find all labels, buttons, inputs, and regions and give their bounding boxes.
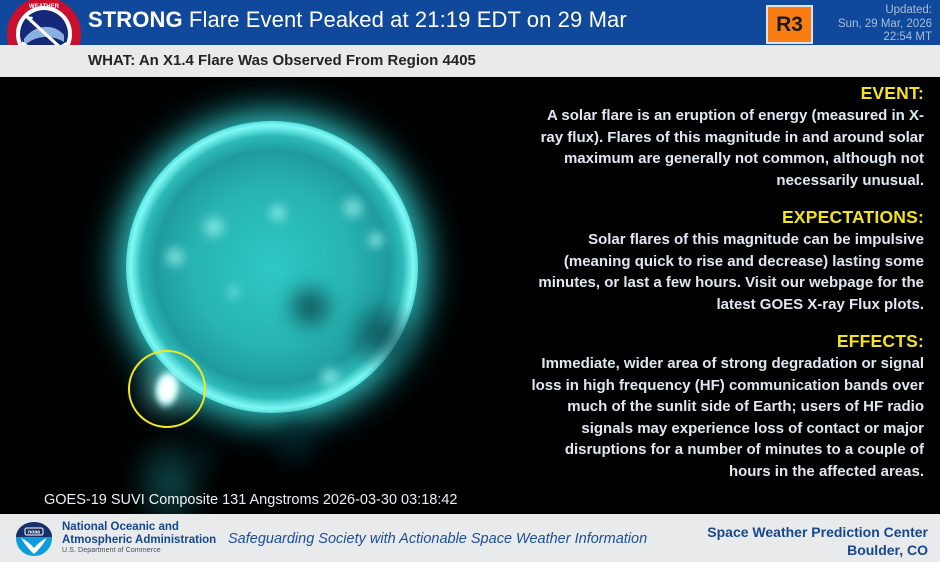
- noaa-name-line2: Atmospheric Administration: [62, 534, 216, 547]
- section-expectations-heading: EXPECTATIONS:: [529, 207, 924, 228]
- info-text-panel: EVENT: A solar flare is an eruption of e…: [523, 77, 940, 514]
- swpc-attribution: Space Weather Prediction Center Boulder,…: [707, 523, 928, 559]
- footer-tagline: Safeguarding Society with Actionable Spa…: [228, 531, 647, 547]
- active-region: [348, 223, 404, 257]
- noaa-name-line1: National Oceanic and: [62, 521, 216, 534]
- section-expectations: EXPECTATIONS: Solar flares of this magni…: [529, 207, 924, 315]
- flare-annotation-circle: [128, 350, 206, 428]
- section-expectations-body: Solar flares of this magnitude can be im…: [529, 229, 924, 315]
- body-area: GOES-19 SUVI Composite 131 Angstroms 202…: [0, 77, 940, 514]
- swpc-location: Boulder, CO: [707, 541, 928, 559]
- updated-timestamp: Updated: Sun, 29 Mar, 2026 22:54 MT: [812, 4, 932, 45]
- page-title-severity: STRONG: [88, 7, 183, 32]
- updated-time: 22:54 MT: [812, 31, 932, 45]
- noaa-logo-icon: noaa: [14, 521, 54, 557]
- image-caption: GOES-19 SUVI Composite 131 Angstroms 202…: [44, 492, 457, 508]
- svg-text:WEATHER: WEATHER: [29, 4, 60, 10]
- active-region: [210, 277, 256, 307]
- section-effects-body: Immediate, wider area of strong degradat…: [529, 353, 924, 482]
- section-event: EVENT: A solar flare is an eruption of e…: [529, 83, 924, 191]
- status-badge: R3: [766, 5, 813, 44]
- updated-label: Updated:: [812, 4, 932, 18]
- what-text: WHAT: An X1.4 Flare Was Observed From Re…: [88, 52, 476, 69]
- active-region: [248, 195, 308, 231]
- space-weather-alert-page: STRONG Flare Event Peaked at 21:19 EDT o…: [0, 0, 940, 562]
- status-badge-label: R3: [776, 14, 803, 35]
- coronal-hole: [160, 427, 250, 487]
- updated-date: Sun, 29 Mar, 2026: [812, 18, 932, 32]
- section-effects: EFFECTS: Immediate, wider area of strong…: [529, 331, 924, 482]
- page-title: STRONG Flare Event Peaked at 21:19 EDT o…: [88, 7, 748, 33]
- active-region: [150, 237, 200, 277]
- noaa-agency-name: National Oceanic and Atmospheric Adminis…: [62, 521, 216, 546]
- coronal-hole: [330, 277, 440, 397]
- page-title-rest: Flare Event Peaked at 21:19 EDT on 29 Ma…: [183, 7, 627, 32]
- section-event-heading: EVENT:: [529, 83, 924, 104]
- noaa-department: U.S. Department of Commerce: [62, 547, 161, 554]
- solar-image-panel: GOES-19 SUVI Composite 131 Angstroms 202…: [0, 77, 523, 514]
- svg-text:noaa: noaa: [28, 530, 40, 536]
- swpc-name: Space Weather Prediction Center: [707, 523, 928, 541]
- section-effects-heading: EFFECTS:: [529, 331, 924, 352]
- section-event-body: A solar flare is an eruption of energy (…: [529, 105, 924, 191]
- suvi-image: [0, 77, 523, 514]
- coronal-hole: [230, 397, 360, 487]
